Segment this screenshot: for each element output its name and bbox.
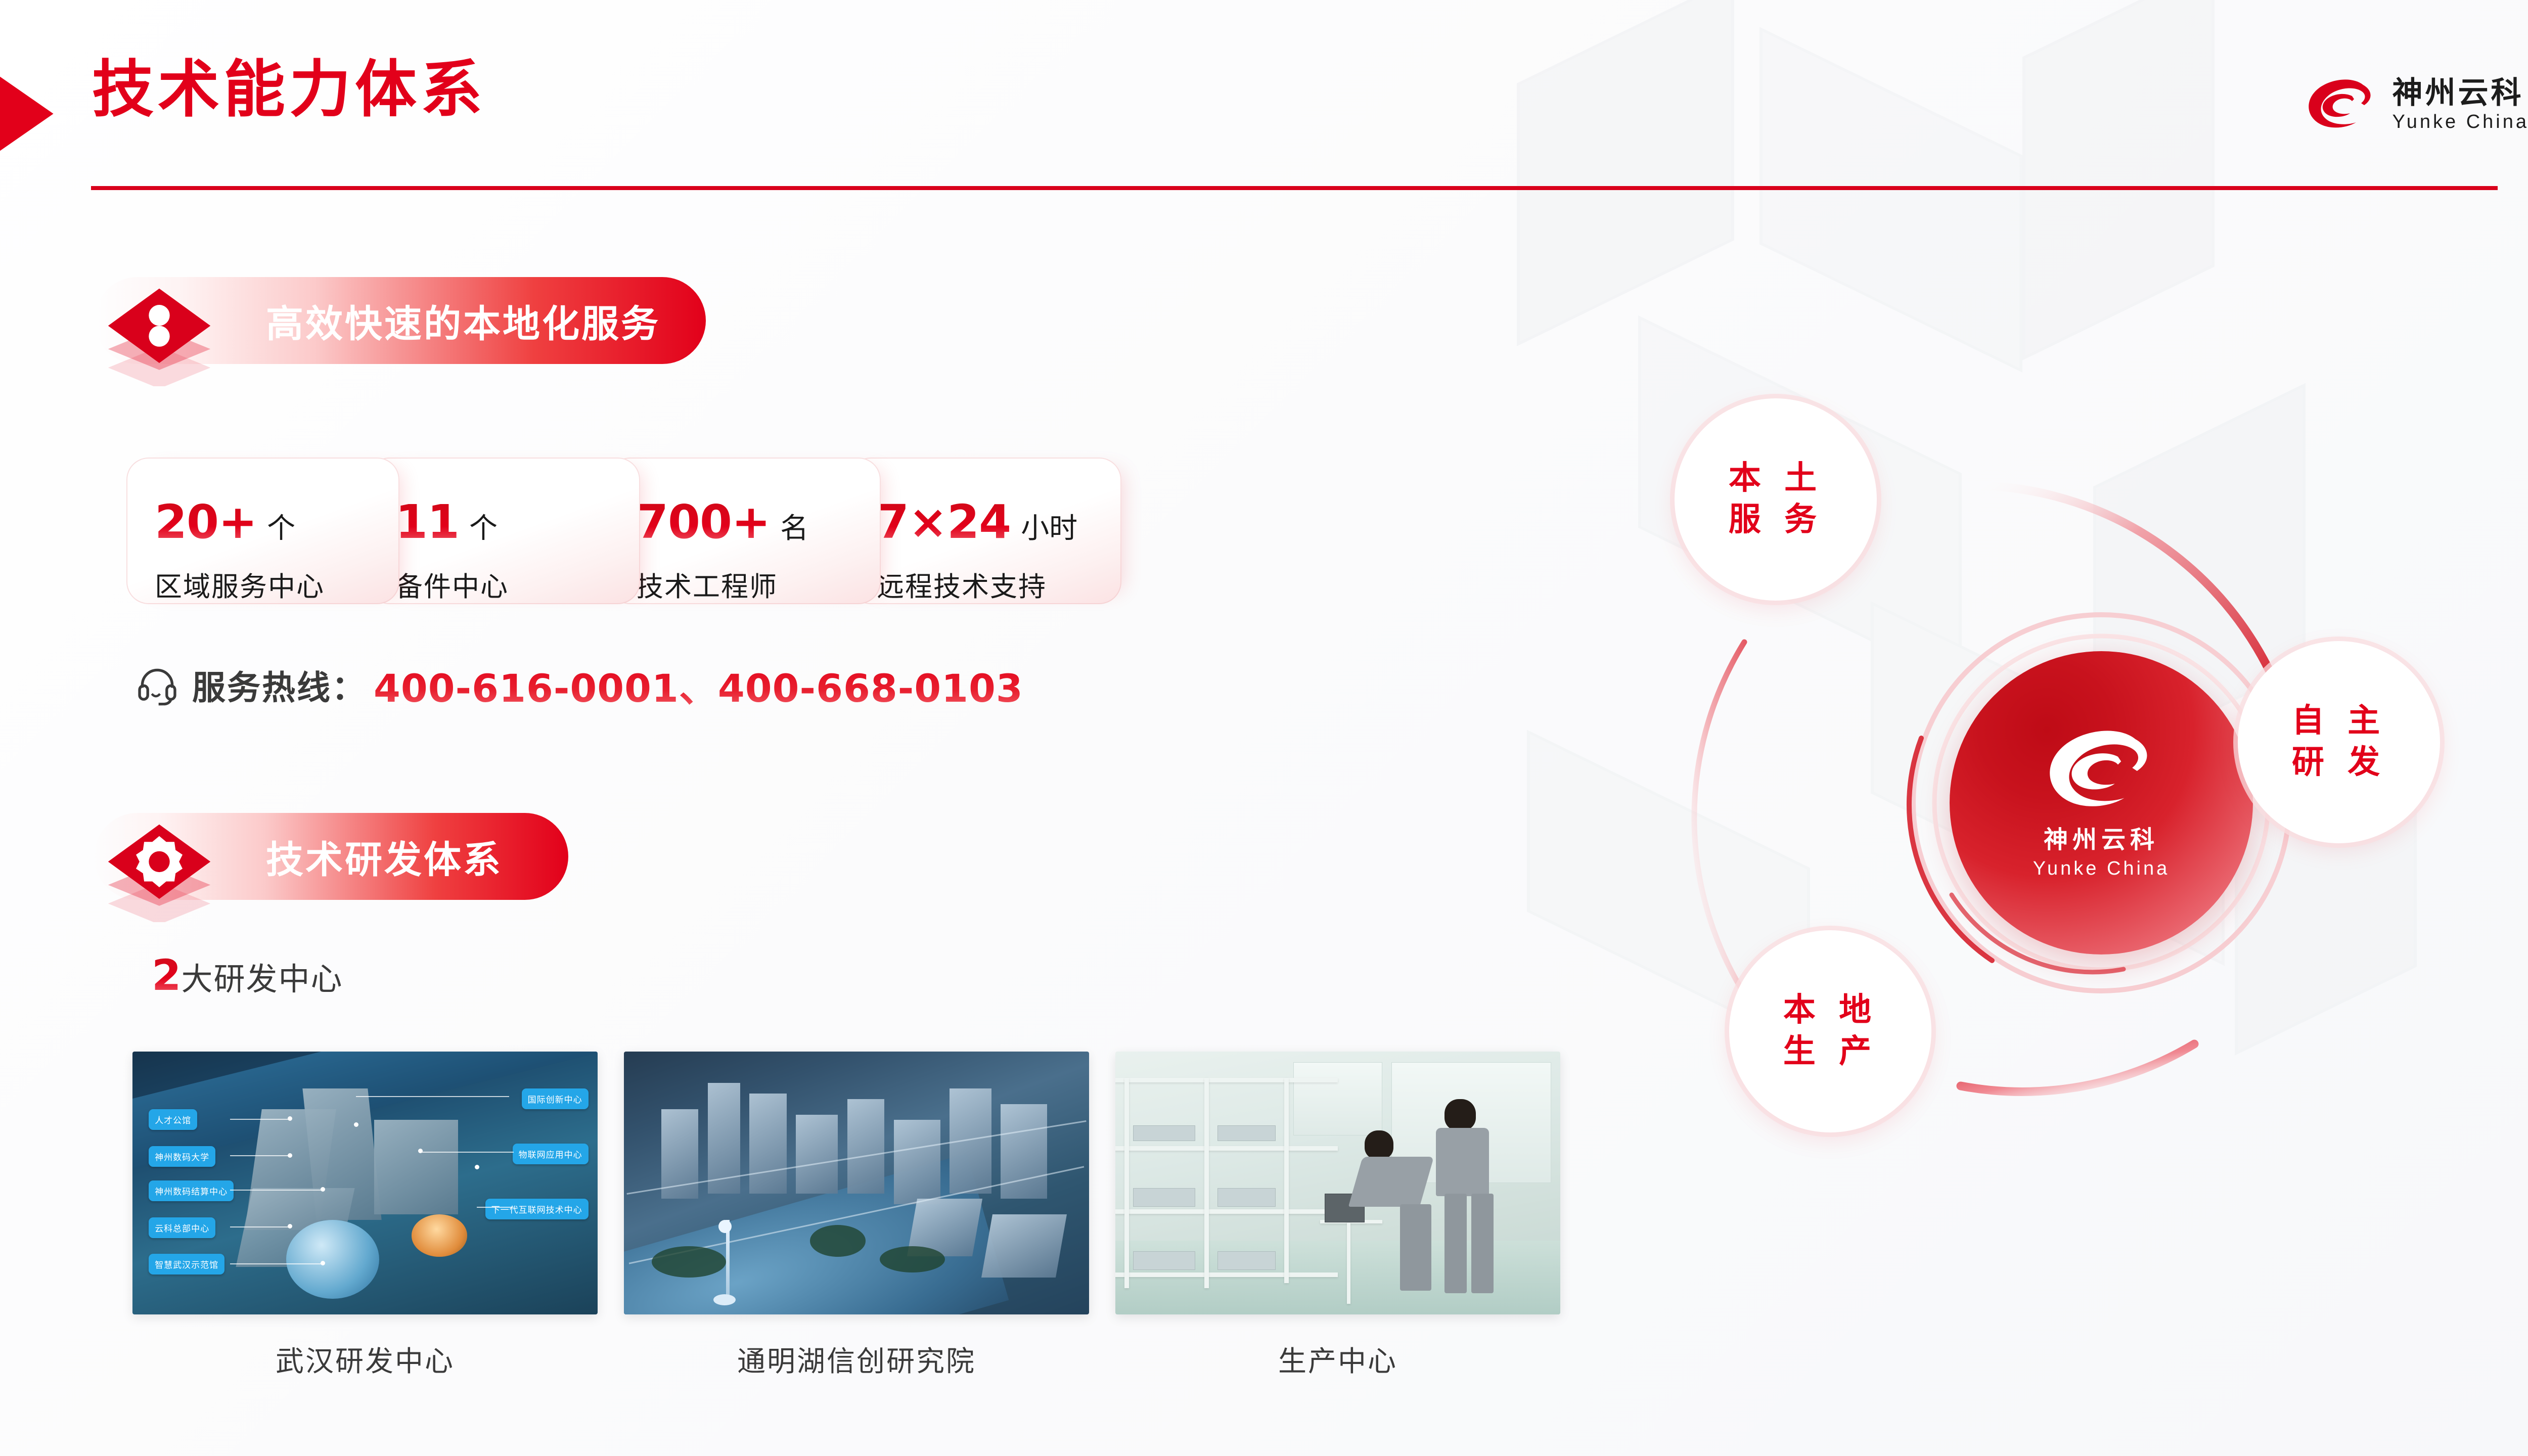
slide-root: 技术能力体系 神州云科 Yunke China 高效快速的本地化服务 bbox=[0, 0, 2528, 1456]
stat-number: 20+ bbox=[155, 495, 257, 549]
page-title: 技术能力体系 bbox=[92, 56, 486, 123]
header-divider bbox=[91, 186, 2498, 190]
stat-label: 备件中心 bbox=[395, 564, 640, 604]
yunke-swoosh-icon bbox=[2041, 726, 2162, 815]
hotline-numbers: 400-616-0001、400-668-0103 bbox=[374, 657, 1023, 713]
stat-number: 700+ bbox=[636, 495, 770, 549]
stat-label: 远程技术支持 bbox=[877, 564, 1121, 604]
node-self-rnd[interactable]: 自 主 研 发 bbox=[2238, 641, 2440, 843]
rnd-count-number: 2 bbox=[152, 950, 181, 1000]
photo-label: 智慧武汉示范馆 bbox=[149, 1254, 224, 1275]
stat-number: 11 bbox=[395, 495, 459, 549]
rnd-photo-item: 生产中心 bbox=[1115, 1052, 1560, 1380]
stat-unit: 个 bbox=[267, 506, 295, 547]
stat-card-group: 20+ 个 区域服务中心 11 个 备件中心 700+ 名 技术工程师 7×24… bbox=[126, 458, 1089, 604]
section-label: 高效快速的本地化服务 bbox=[266, 294, 660, 348]
hub-name-cn: 神州云科 bbox=[2044, 820, 2159, 855]
photo-label: 物联网应用中心 bbox=[513, 1144, 589, 1164]
section-badge-rnd-system: 技术研发体系 bbox=[94, 813, 568, 900]
service-hotline: 服务热线： 400-616-0001、400-668-0103 bbox=[136, 657, 1023, 713]
rnd-count-label: 大研发中心 bbox=[181, 953, 343, 999]
photo-caption: 生产中心 bbox=[1278, 1339, 1397, 1380]
headset-icon bbox=[136, 663, 179, 707]
rnd-photo-item: 人才公馆 神州数码大学 神州数码结算中心 云科总部中心 智慧武汉示范馆 国际创新… bbox=[132, 1052, 598, 1380]
stat-label: 区域服务中心 bbox=[155, 564, 399, 604]
stat-unit: 名 bbox=[780, 506, 808, 547]
production-center-photo bbox=[1115, 1052, 1560, 1314]
yunke-swoosh-icon bbox=[2304, 77, 2379, 133]
rnd-center-count: 2 大研发中心 bbox=[152, 950, 343, 1000]
brand-name-cn: 神州云科 bbox=[2392, 77, 2524, 109]
title-arrow-marker bbox=[0, 56, 86, 172]
node-line-2: 服 务 bbox=[1729, 499, 1823, 541]
node-line-2: 研 发 bbox=[2292, 742, 2386, 784]
hub-name-en: Yunke China bbox=[2033, 858, 2170, 880]
stat-card: 700+ 名 技术工程师 bbox=[608, 458, 881, 604]
photo-label: 云科总部中心 bbox=[149, 1217, 215, 1238]
photo-label: 下一代互联网技术中心 bbox=[485, 1199, 589, 1219]
stat-card: 11 个 备件中心 bbox=[367, 458, 640, 604]
stat-card: 20+ 个 区域服务中心 bbox=[126, 458, 399, 604]
quatrefoil-diamond-icon bbox=[101, 270, 217, 386]
capability-circle-diagram: 神州云科 Yunke China 本 土 服 务 自 主 研 发 本 地 生 产 bbox=[1668, 384, 2528, 1274]
photo-caption: 武汉研发中心 bbox=[276, 1339, 455, 1380]
photo-label: 神州数码大学 bbox=[149, 1146, 215, 1167]
tongminghu-institute-photo bbox=[624, 1052, 1089, 1314]
node-line-1: 本 地 bbox=[1783, 990, 1877, 1031]
photo-label: 国际创新中心 bbox=[522, 1088, 589, 1109]
wuhan-rnd-center-photo: 人才公馆 神州数码大学 神州数码结算中心 云科总部中心 智慧武汉示范馆 国际创新… bbox=[132, 1052, 598, 1314]
node-line-1: 本 土 bbox=[1729, 458, 1823, 499]
hub-circle: 神州云科 Yunke China bbox=[1950, 651, 2253, 954]
hotline-label: 服务热线： bbox=[192, 661, 367, 709]
photo-label: 神州数码结算中心 bbox=[149, 1180, 234, 1201]
stat-unit: 小时 bbox=[1021, 506, 1077, 547]
rnd-photo-row: 人才公馆 神州数码大学 神州数码结算中心 云科总部中心 智慧武汉示范馆 国际创新… bbox=[132, 1052, 1560, 1380]
node-line-2: 生 产 bbox=[1783, 1031, 1877, 1073]
photo-label: 人才公馆 bbox=[149, 1109, 197, 1130]
stat-card: 7×24 小时 远程技术支持 bbox=[848, 458, 1121, 604]
rnd-photo-item: 通明湖信创研究院 bbox=[624, 1052, 1089, 1380]
gear-diamond-icon bbox=[101, 806, 217, 922]
section-label: 技术研发体系 bbox=[266, 830, 503, 884]
node-local-production[interactable]: 本 地 生 产 bbox=[1729, 930, 1931, 1132]
stat-unit: 个 bbox=[469, 506, 498, 547]
stat-label: 技术工程师 bbox=[636, 564, 881, 604]
section-badge-localized-service: 高效快速的本地化服务 bbox=[94, 277, 706, 364]
photo-caption: 通明湖信创研究院 bbox=[737, 1339, 976, 1380]
node-local-service[interactable]: 本 土 服 务 bbox=[1675, 398, 1877, 601]
stat-number: 7×24 bbox=[877, 495, 1011, 549]
node-line-1: 自 主 bbox=[2292, 701, 2386, 742]
brand-logo: 神州云科 Yunke China bbox=[2304, 77, 2528, 133]
brand-name-en: Yunke China bbox=[2392, 111, 2528, 133]
